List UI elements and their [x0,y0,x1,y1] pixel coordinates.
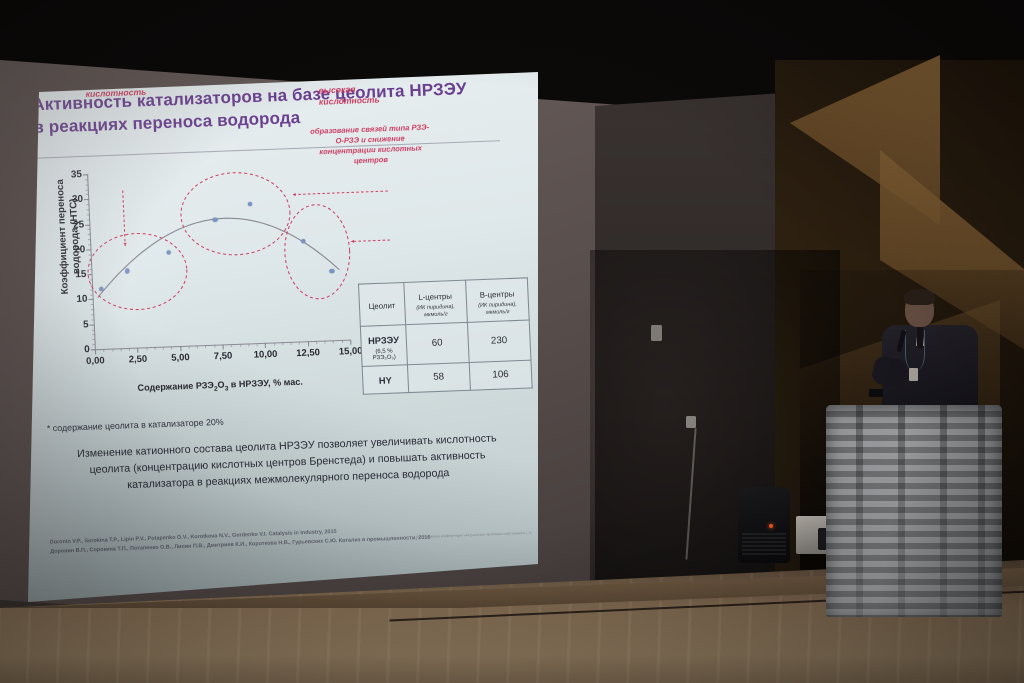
table-row: НРЗЭУ (6,5 % РЗЭ₂О₃) 60 230 [360,320,531,366]
annotation-arrow-low-head [124,243,127,246]
chart-y-minor-tick [90,294,93,295]
table-cell-l-centers: 58 [407,362,470,392]
chart-y-tick-label: 5 [83,319,89,331]
chart-y-minor-tick [89,269,92,270]
chart-y-minor-tick [91,309,94,310]
chart-y-minor-tick [92,344,95,345]
chart-y-minor-tick [91,329,94,330]
chart-y-minor-tick [85,174,88,175]
chart-x-minor-tick [231,344,232,347]
pa-speaker-power-led [769,524,773,528]
chart-x-minor-tick [223,344,224,347]
annotation-bond-formation: образование связей типа РЗЭ-О-РЗЭ и сниж… [308,122,433,168]
presentation-clicker [869,389,883,397]
chart-y-minor-tick [88,244,91,245]
chart-y-tick-label: 30 [72,194,83,206]
table-header-zeolite: Цеолит [358,282,405,325]
chart-x-minor-tick [265,343,266,346]
chart-y-tick-label: 10 [76,294,87,306]
chart-highlight-ellipse [179,171,292,257]
table-row: HY 58 106 [362,360,532,394]
slide-conclusion: Изменение катионного состава цеолита НРЗ… [60,430,515,497]
chart-x-axis-label: Содержание РЗЭ2О3 в НРЗЭУ, % мас. [76,374,365,398]
chart-y-minor-tick [89,279,92,280]
chart-x-minor-tick [188,346,189,349]
chart-svg [87,165,350,350]
chart-y-minor-tick [90,299,93,300]
table-header-l-centers: L-центры (ИК пиридина), мкмоль/г [403,280,467,324]
annotation-arrow-low [123,190,125,245]
chart-y-minor-tick [85,194,88,195]
chart-x-minor-tick [154,347,155,350]
chart-x-minor-tick [342,340,343,343]
chart-x-tick-label: 15,00 [339,345,363,356]
chart-y-minor-tick [91,319,94,320]
light-switch[interactable] [651,325,662,341]
chart-x-tick-label: 12,50 [296,347,320,358]
chart-y-minor-tick [89,284,92,285]
chart-x-minor-tick [146,347,147,350]
projection-screen: Активность катализаторов на базе цеолита… [28,72,538,602]
chart-y-tick-label: 15 [75,269,86,281]
chart-y-minor-tick [87,229,90,230]
chart-x-minor-tick [316,341,317,344]
chart-x-minor-tick [240,344,241,347]
chart-x-minor-tick [120,348,121,351]
chart-y-minor-tick [92,339,95,340]
chart-x-minor-tick [333,340,334,343]
slide-references: Doronin V.P., Sorokina T.P., Lipin P.V.,… [50,522,483,557]
presentation-room-photo: Активность катализаторов на базе цеолита… [0,0,1024,683]
chart-y-minor-tick [85,179,88,180]
chart-x-minor-tick [282,342,283,345]
table-cell-l-centers: 60 [405,322,469,364]
table-header-b-centers: B-центры (ИК пиридина), мкмоль/г [465,278,529,322]
chart-y-minor-tick [85,189,88,190]
chart-y-tick-label: 35 [71,169,82,181]
table-cell-zeolite-name: НРЗЭУ (6,5 % РЗЭ₂О₃) [360,324,407,366]
chart-y-minor-tick [86,199,89,200]
chart-y-tick-label: 25 [73,219,84,231]
chart: Коэффициент переноса водорода (НТС) Соде… [31,160,371,411]
chart-x-minor-tick [257,343,258,346]
chart-x-minor-tick [95,349,96,352]
chart-x-minor-tick [180,346,181,349]
chart-y-minor-tick [88,254,91,255]
chart-plot-area: 051015202530350,002,505,007,5010,0012,50… [87,165,350,350]
chart-y-axis-label: Коэффициент переноса водорода (НТС) [53,159,84,314]
chart-y-minor-tick [90,304,93,305]
chart-y-minor-tick [86,214,89,215]
chart-x-minor-tick [350,340,351,343]
slide-footnote: * содержание цеолита в катализаторе 20% [47,417,224,434]
chart-x-minor-tick [197,345,198,348]
pa-speaker-grille [742,533,786,557]
chart-x-tick-label: 5,00 [171,352,190,363]
chart-y-minor-tick [86,209,89,210]
presenter-badge [909,368,918,381]
chart-y-tick-label: 0 [84,344,90,356]
annotation-arrow-bond-head [351,240,354,243]
chart-x-minor-tick [214,345,215,348]
table-cell-b-centers: 230 [467,320,531,362]
table-cell-b-centers: 106 [469,360,532,390]
chart-y-minor-tick [85,184,88,185]
chart-x-minor-tick [274,342,275,345]
chart-x-minor-tick [325,341,326,344]
chart-x-minor-tick [291,342,292,345]
chart-x-tick-label: 2,50 [128,353,147,364]
chart-y-minor-tick [91,324,94,325]
chart-x-tick-label: 10,00 [253,349,277,360]
chart-y-tick-label: 20 [74,244,85,256]
chart-y-minor-tick [92,334,95,335]
chart-y-minor-tick [90,289,93,290]
chart-y-minor-tick [86,204,89,205]
chart-y-minor-tick [91,314,94,315]
chart-y-minor-tick [89,264,92,265]
chart-x-minor-tick [129,348,130,351]
annotation-arrow-high [293,191,388,195]
chart-y-minor-tick [87,234,90,235]
chart-x-minor-tick [163,347,164,350]
chart-x-minor-tick [103,349,104,352]
chart-highlight-ellipse [86,232,188,312]
table-cell-zeolite-name: HY [362,364,408,393]
chart-x-minor-tick [248,343,249,346]
table-header-row: Цеолит L-центры (ИК пиридина), мкмоль/г … [358,278,529,326]
chart-x-minor-tick [308,341,309,344]
chart-y-minor-tick [88,259,91,260]
chart-y-minor-tick [87,224,90,225]
slide: Активность катализаторов на базе цеолита… [28,72,538,602]
chart-y-minor-tick [89,274,92,275]
chart-y-minor-tick [88,249,91,250]
podium [826,405,1002,617]
chart-x-minor-tick [205,345,206,348]
chart-x-tick-label: 7,50 [214,350,233,361]
chart-y-minor-tick [87,219,90,220]
chart-trendline [94,214,340,297]
chart-y-minor-tick [87,239,90,240]
chart-x-tick-label: 0,00 [86,355,105,366]
chart-x-minor-tick [112,349,113,352]
chart-x-minor-tick [171,346,172,349]
chart-x-minor-tick [299,342,300,345]
presenter-lanyard [905,330,925,370]
acidity-table: Цеолит L-центры (ИК пиридина), мкмоль/г … [358,277,533,394]
power-outlet[interactable] [686,416,696,428]
annotation-arrow-high-head [292,193,295,196]
presenter-hair [904,289,935,305]
annotation-arrow-bond [351,240,390,241]
chart-x-minor-tick [137,348,138,351]
annotation-high-acidity: высокая кислотность [318,83,380,109]
